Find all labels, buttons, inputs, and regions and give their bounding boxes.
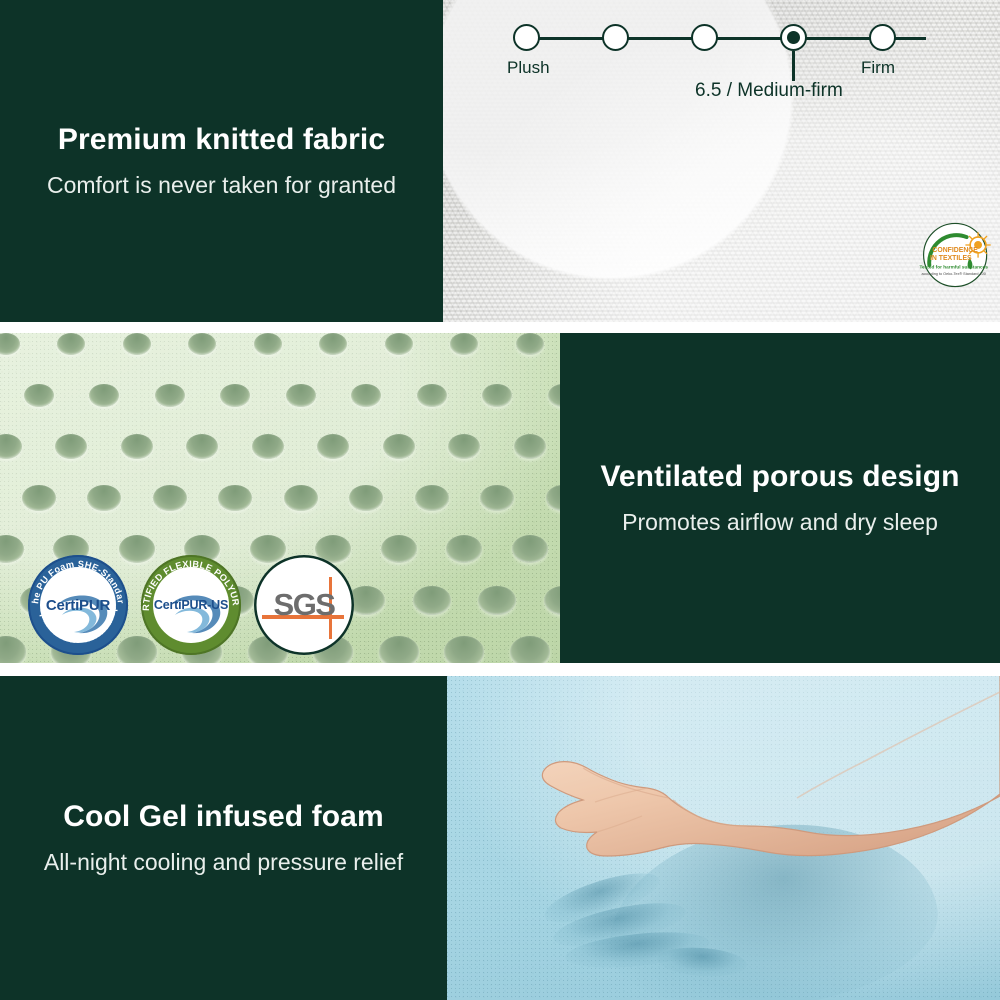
ventilation-hole <box>286 384 316 407</box>
porous-foam-photo: The PU Foam SHE-Standard by Europur AISB… <box>0 333 560 663</box>
feature-row-gel: Cool Gel infused foam All-night cooling … <box>0 676 1000 1000</box>
ventilated-text-panel: Ventilated porous design Promotes airflo… <box>560 333 1000 663</box>
firmness-dot-5[interactable] <box>869 24 896 51</box>
firmness-dot-4[interactable] <box>780 24 807 51</box>
certipur-badge: The PU Foam SHE-Standard by Europur AISB… <box>28 555 128 655</box>
ventilation-hole <box>0 535 24 563</box>
ventilation-hole <box>379 636 419 663</box>
certification-badges: The PU Foam SHE-Standard by Europur AISB… <box>28 555 354 655</box>
ventilation-hole <box>448 434 480 459</box>
ventilation-hole <box>319 333 347 355</box>
row-divider-2 <box>0 663 1000 676</box>
ventilation-hole <box>480 485 514 512</box>
ventilation-hole <box>349 485 383 512</box>
firmness-scale-track: Plush Firm 6.5 / Medium-firm <box>513 18 940 58</box>
infographic-page: Premium knitted fabric Comfort is never … <box>0 0 1000 1000</box>
firmness-dot-2[interactable] <box>602 24 629 51</box>
firmness-dot-1[interactable] <box>513 24 540 51</box>
knitted-fabric-photo: Plush Firm 6.5 / Medium-firm <box>443 0 1000 322</box>
sgs-wordmark: SGS <box>274 587 335 623</box>
ventilated-headline: Ventilated porous design <box>560 458 1000 496</box>
hand-svg <box>447 676 1000 1000</box>
ventilation-hole <box>153 485 187 512</box>
gel-text-panel: Cool Gel infused foam All-night cooling … <box>0 676 447 1000</box>
ventilation-hole <box>55 434 87 459</box>
firmness-dot-3[interactable] <box>691 24 718 51</box>
ventilation-hole <box>478 586 516 616</box>
certipur-wordmark: CertiPUR <box>46 597 110 614</box>
ventilation-hole <box>415 485 449 512</box>
ventilation-hole <box>514 434 546 459</box>
oeko-tex-badge: CONFIDENCE IN TEXTILES Tested for harmfu… <box>915 220 1000 290</box>
ventilation-hole <box>317 434 349 459</box>
row-divider-1 <box>0 322 1000 333</box>
ventilation-hole <box>188 333 216 355</box>
ventilation-hole <box>24 384 54 407</box>
firmness-scale-line <box>527 37 926 40</box>
ventilation-hole <box>220 384 250 407</box>
fabric-text-panel: Premium knitted fabric Comfort is never … <box>0 0 443 322</box>
ventilation-hole <box>123 333 151 355</box>
ventilation-hole <box>57 333 85 355</box>
gel-foam-photo <box>447 676 1000 1000</box>
ventilation-hole <box>121 434 153 459</box>
ventilation-hole <box>351 384 381 407</box>
certipur-us-core: CertiPUR-US <box>153 567 229 643</box>
certipur-us-badge: CONTAINS CERTIFIED FLEXIBLE POLYURETHANE… <box>141 555 241 655</box>
fabric-subhead: Comfort is never taken for granted <box>0 171 443 201</box>
ventilation-hole <box>186 434 218 459</box>
ventilated-subhead: Promotes airflow and dry sleep <box>560 508 1000 538</box>
ventilation-hole <box>512 535 548 563</box>
ventilation-hole <box>510 636 550 663</box>
gel-subhead: All-night cooling and pressure relief <box>0 848 447 878</box>
ventilation-hole <box>89 384 119 407</box>
ventilation-hole <box>252 434 284 459</box>
ventilation-hole <box>450 333 478 355</box>
firmness-value-label: 6.5 / Medium-firm <box>695 80 843 102</box>
certipur-us-wordmark: CertiPUR-US <box>154 598 228 612</box>
oeko-line4: according to Oeko-Tex® Standard 100 <box>922 272 986 276</box>
gel-headline: Cool Gel infused foam <box>0 798 447 836</box>
certipur-core: CertiPUR <box>40 567 116 643</box>
sgs-badge: SGS <box>254 555 354 655</box>
firmness-label-plush: Plush <box>507 58 550 78</box>
feature-row-ventilated: The PU Foam SHE-Standard by Europur AISB… <box>0 333 1000 663</box>
oeko-line3: Tested for harmful substances <box>920 265 989 271</box>
oeko-line2: IN TEXTILES <box>930 255 972 262</box>
ventilation-hole <box>87 485 121 512</box>
oeko-tex-badge-svg: CONFIDENCE IN TEXTILES Tested for harmfu… <box>915 220 1000 290</box>
ventilation-hole <box>0 434 22 459</box>
ventilation-hole <box>548 384 560 407</box>
ventilation-hole <box>446 535 482 563</box>
fabric-headline: Premium knitted fabric <box>0 121 443 159</box>
oeko-line1: CONFIDENCE <box>932 247 978 254</box>
ventilation-hole <box>254 333 282 355</box>
ventilation-hole <box>546 485 560 512</box>
ventilation-hole <box>444 636 484 663</box>
ventilation-hole <box>417 384 447 407</box>
ventilation-hole <box>544 586 560 616</box>
sgs-logo: SGS <box>254 555 354 655</box>
ventilation-hole <box>516 333 544 355</box>
ventilation-hole <box>482 384 512 407</box>
ventilation-hole <box>383 434 415 459</box>
hand-pressing-foam <box>447 676 1000 1000</box>
feature-row-fabric: Premium knitted fabric Comfort is never … <box>0 0 1000 322</box>
ventilation-hole <box>413 586 451 616</box>
firmness-value-stem <box>792 51 795 81</box>
firmness-label-firm: Firm <box>861 58 895 78</box>
ventilation-hole <box>284 485 318 512</box>
ventilation-hole <box>0 333 20 355</box>
firmness-scale: Plush Firm 6.5 / Medium-firm <box>443 18 1000 58</box>
ventilation-hole <box>385 333 413 355</box>
ventilation-hole <box>0 636 26 663</box>
ventilation-hole <box>155 384 185 407</box>
ventilation-hole <box>22 485 56 512</box>
ventilation-hole <box>381 535 417 563</box>
ventilation-hole <box>218 485 252 512</box>
